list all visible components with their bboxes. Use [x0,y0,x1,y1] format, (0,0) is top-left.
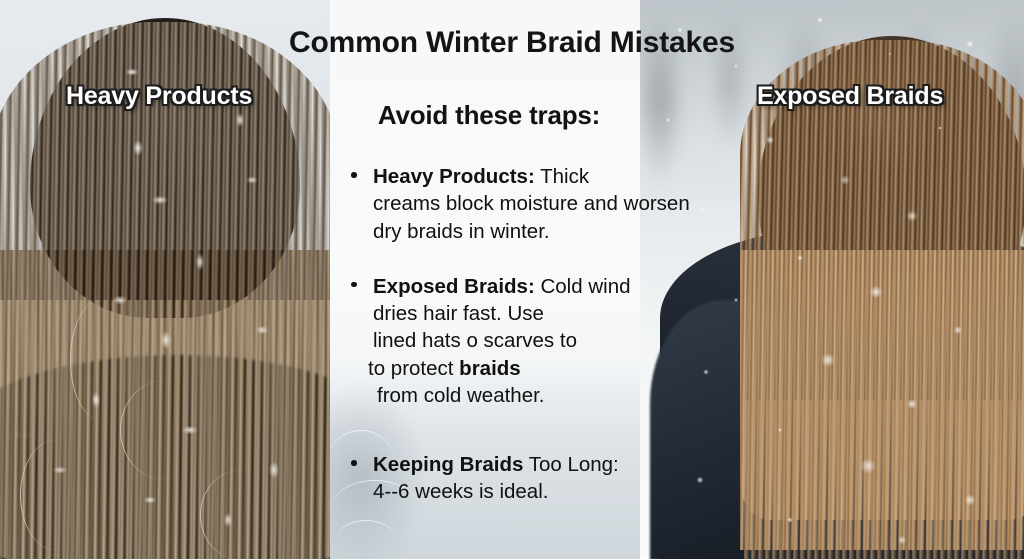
page-title: Common Winter Braid Mistakes [0,26,1024,60]
list-item-line: from cold weather. [377,382,778,409]
bullet-dot-icon [351,172,357,178]
infographic-canvas: Common Winter Braid Mistakes Avoid these… [0,0,1024,559]
list-item-line: dries hair fast. Use [373,300,778,327]
text-overlay: Common Winter Braid Mistakes Avoid these… [0,0,1024,559]
bullet-dot-icon [351,460,357,466]
photo-right-caption: Exposed Braids [757,82,943,111]
list-item-line: to protect braids [368,355,778,382]
mistakes-list: Heavy Products: Thick creams block moist… [348,163,778,528]
list-item-line: Keeping Braids Too Long: [373,451,778,478]
list-item-body: to protect [368,357,459,380]
list-item-term: Heavy Products: [373,165,535,188]
list-item: Keeping Braids Too Long: 4--6 weeks is i… [348,451,778,506]
list-item-emphasis: braids [459,357,521,380]
photo-left-caption: Heavy Products [66,82,252,111]
section-subheading: Avoid these traps: [330,100,648,131]
list-item-line: 4--6 weeks is ideal. [373,478,778,505]
list-item-text: Heavy Products: Thick creams block moist… [348,163,778,245]
list-item-text: Exposed Braids: Cold wind dries hair fas… [348,273,778,409]
list-item-line: lined hats o scarves to [373,327,778,354]
list-item: Exposed Braids: Cold wind dries hair fas… [348,273,778,409]
list-item-line: creams block moisture and worsen [373,190,778,217]
list-item-body: Cold wind [535,275,631,298]
list-item-term: Exposed Braids: [373,275,535,298]
bullet-dot-icon [351,282,357,288]
list-item-body: Too Long: [523,453,618,476]
list-item-line: Exposed Braids: Cold wind [373,273,778,300]
list-item: Heavy Products: Thick creams block moist… [348,163,778,245]
list-item-term: Keeping Braids [373,453,523,476]
list-item-line: dry braids in winter. [373,218,778,245]
list-item-body: Thick [535,165,589,188]
list-item-text: Keeping Braids Too Long: 4--6 weeks is i… [348,451,778,506]
list-item-line: Heavy Products: Thick [373,163,778,190]
